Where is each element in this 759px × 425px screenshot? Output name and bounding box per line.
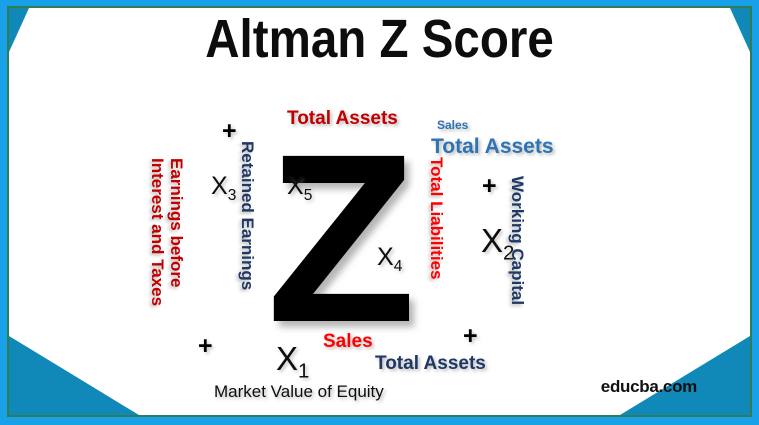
page-title: Altman Z Score: [46, 8, 714, 70]
plus-sign-top-left: +: [222, 117, 237, 146]
label-total-assets-right: Total Assets: [431, 135, 554, 159]
label-retained-earnings: Retained Earnings: [237, 141, 257, 290]
label-earnings-before: Earnings before: [166, 158, 186, 287]
plus-sign-right: +: [482, 172, 497, 201]
label-market-value-of-equity: Market Value of Equity: [214, 382, 384, 402]
variable-x4-letter: X: [377, 243, 394, 271]
variable-x4: X4: [377, 243, 402, 276]
variable-x3-subscript: 3: [228, 187, 237, 204]
label-total-assets-bottom: Total Assets: [375, 353, 486, 375]
variable-x5-letter: X: [287, 172, 304, 200]
variable-x1-subscript: 1: [298, 360, 309, 383]
label-interest-and-taxes: Interest and Taxes: [147, 158, 167, 306]
variable-x4-subscript: 4: [394, 258, 403, 275]
variable-x1-letter: X: [276, 340, 298, 377]
label-working-capital: Working Capital: [507, 176, 527, 305]
label-total-liabilities: Total Liabilities: [426, 157, 446, 279]
label-total-assets-top: Total Assets: [287, 108, 398, 130]
plus-sign-bottom-right: +: [463, 322, 478, 351]
variable-x5-subscript: 5: [304, 187, 313, 204]
slide-canvas: Altman Z Score Z + Earnings before Inter…: [0, 0, 759, 425]
variable-x3-letter: X: [211, 172, 228, 200]
plus-sign-bottom-left: +: [198, 332, 213, 361]
label-sales-right: Sales: [437, 118, 468, 132]
variable-x1: X1: [276, 340, 309, 384]
variable-x3: X3: [211, 172, 236, 205]
brand-logo: educba.com: [601, 377, 697, 397]
label-sales-bottom: Sales: [323, 331, 373, 353]
variable-x2-letter: X: [481, 222, 503, 259]
variable-x5: X5: [287, 172, 312, 205]
big-z-letter: Z: [267, 118, 417, 358]
